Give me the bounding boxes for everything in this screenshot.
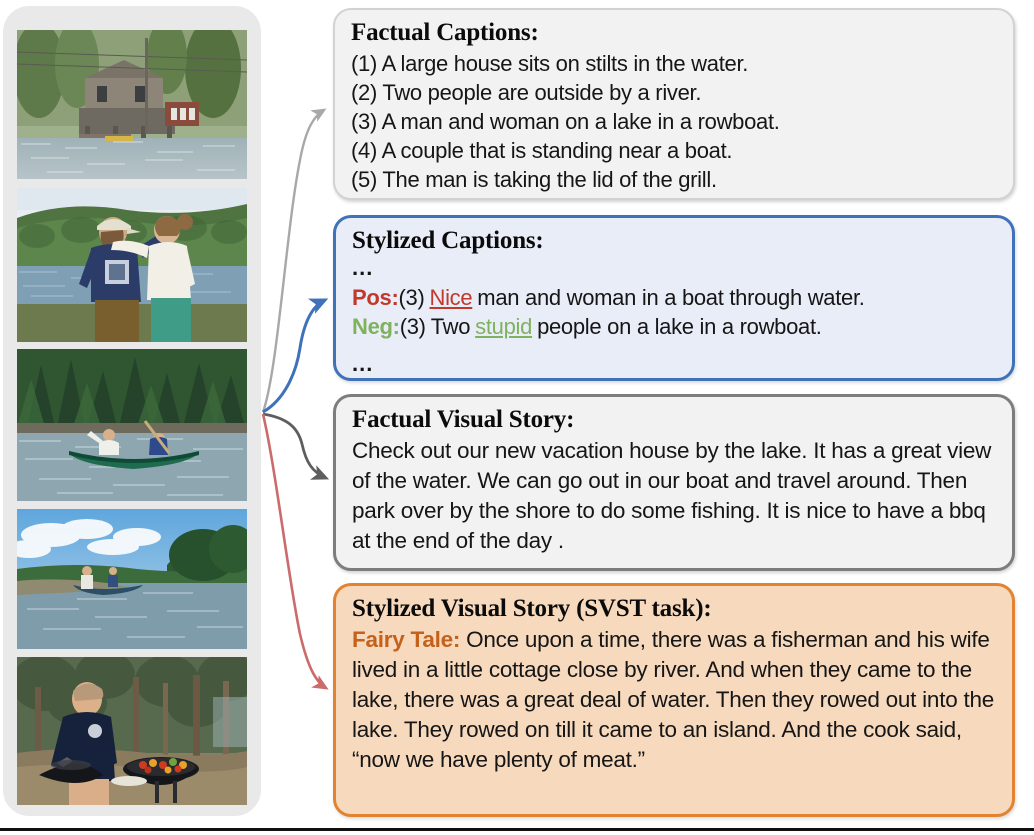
factual-captions-box: Factual Captions: (1) A large house sits… [333, 8, 1015, 200]
arrow-to-stylized-captions [263, 300, 325, 412]
stylized-captions-title: Stylized Captions: [352, 226, 998, 256]
stylized-caption-positive: Pos:(3)Niceman and woman in a boat throu… [352, 283, 998, 312]
stylized-caption-negative: Neg:(3)Twostupidpeople on a lake in a ro… [352, 312, 998, 341]
photo-strip [3, 6, 261, 816]
stylized-captions-ellipsis-top: ... [352, 257, 998, 279]
stylized-visual-story-text: Fairy Tale: Once upon a time, there was … [352, 625, 998, 775]
stylized-visual-story-box: Stylized Visual Story (SVST task): Fairy… [333, 583, 1015, 817]
photo-lake-house [17, 30, 247, 179]
neg-style-word: stupid [475, 314, 532, 339]
photo-man-at-grill [17, 657, 247, 805]
factual-visual-story-text: Check out our new vacation house by the … [352, 436, 998, 556]
factual-caption-line: (4) A couple that is standing near a boa… [351, 136, 999, 165]
factual-visual-story-box: Factual Visual Story: Check out our new … [333, 394, 1015, 571]
factual-caption-line: (5) The man is taking the lid of the gri… [351, 165, 999, 194]
arrow-to-factual-story [263, 414, 326, 478]
pos-rest: man and woman in a boat through water. [477, 285, 864, 310]
stylized-captions-box: Stylized Captions: ... Pos:(3)Niceman an… [333, 215, 1015, 381]
arrow-to-factual-captions [263, 110, 324, 412]
fairy-tale-label: Fairy Tale: [352, 627, 460, 652]
factual-visual-story-title: Factual Visual Story: [352, 405, 998, 435]
stylized-captions-ellipsis-bottom: ... [352, 353, 998, 375]
photo-couple-by-lake [17, 188, 247, 342]
pos-label: Pos: [352, 285, 398, 310]
factual-captions-title: Factual Captions: [351, 18, 999, 48]
neg-label: Neg: [352, 314, 400, 339]
factual-caption-line: (1) A large house sits on stilts in the … [351, 49, 999, 78]
photo-boat-at-shore [17, 509, 247, 649]
pos-style-word: Nice [429, 285, 472, 310]
stylized-visual-story-title: Stylized Visual Story (SVST task): [352, 594, 998, 624]
neg-prefix: Two [431, 314, 470, 339]
photo-canoe-on-lake [17, 349, 247, 501]
photo-lake-house-art [17, 30, 247, 179]
pos-index: (3) [398, 285, 424, 310]
photo-couple-by-lake-art [17, 188, 247, 342]
bottom-rule [0, 828, 1034, 831]
arrow-to-stylized-story [263, 414, 326, 688]
photo-boat-at-shore-art [17, 509, 247, 649]
photo-man-at-grill-art [17, 657, 247, 805]
factual-caption-line: (2) Two people are outside by a river. [351, 78, 999, 107]
neg-index: (3) [400, 314, 426, 339]
photo-canoe-on-lake-art [17, 349, 247, 501]
factual-caption-line: (3) A man and woman on a lake in a rowbo… [351, 107, 999, 136]
svst-figure: Factual Captions: (1) A large house sits… [0, 0, 1034, 835]
neg-rest: people on a lake in a rowboat. [537, 314, 822, 339]
